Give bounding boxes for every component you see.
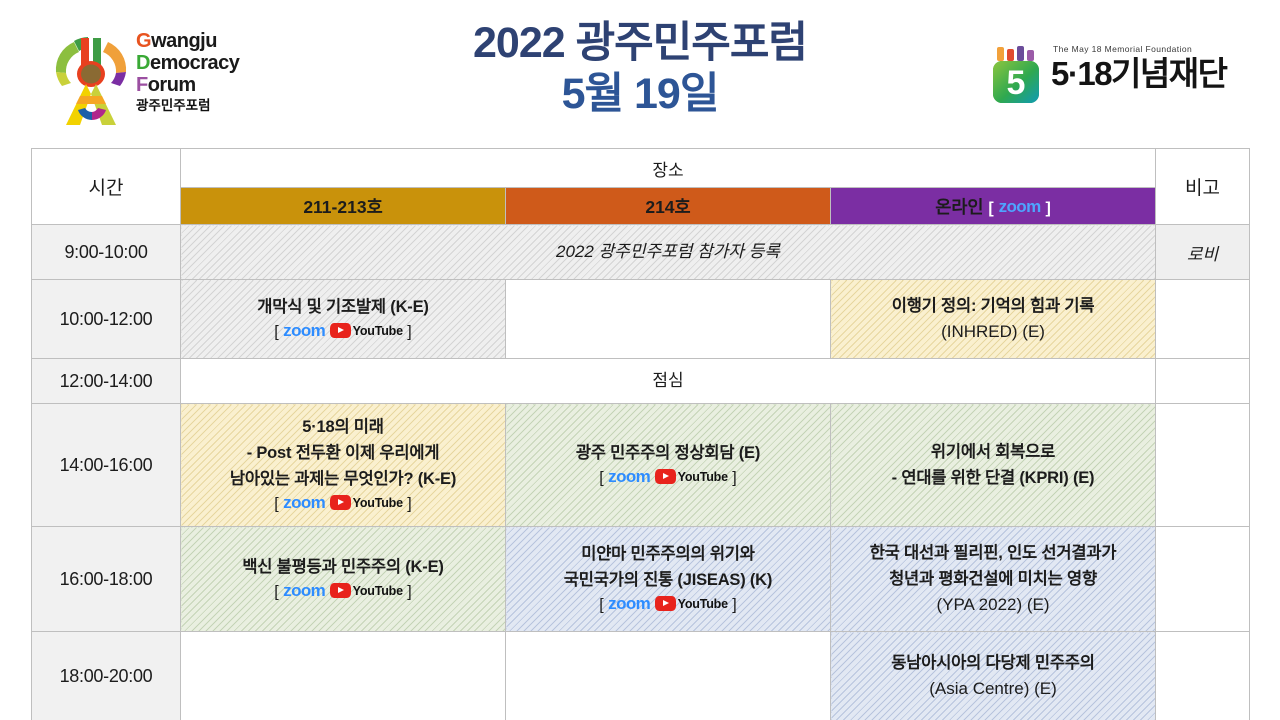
session-links: [ zoom YouTube ] bbox=[191, 492, 495, 516]
session-cell-211-213: 백신 불평등과 민주주의 (K-E) [ zoom YouTube ] bbox=[181, 527, 506, 632]
session-subtitle: (Asia Centre) (E) bbox=[841, 676, 1145, 702]
row-note bbox=[1156, 404, 1250, 527]
foundation-emblem-icon: 5 bbox=[989, 46, 1045, 104]
session-cell-online: 한국 대선과 필리핀, 인도 선거결과가 청년과 평화건설에 미치는 영향 (Y… bbox=[831, 527, 1156, 632]
youtube-logo: YouTube bbox=[330, 319, 403, 343]
session-cell-211-213: 5·18의 미래 - Post 전두환 이제 우리에게 남아있는 과제는 무엇인… bbox=[181, 404, 506, 527]
schedule-table: 시간 장소 비고 211-213호 214호 온라인 [ zoom ] 9:00… bbox=[31, 148, 1250, 720]
table-row: 18:00-20:00 동남아시아의 다당제 민주주의 (Asia Centre… bbox=[32, 632, 1250, 720]
header-note: 비고 bbox=[1156, 149, 1250, 225]
lunch-text: 점심 bbox=[181, 360, 1155, 402]
session-title-2: 청년과 평화건설에 미치는 영향 bbox=[841, 566, 1145, 592]
session-title-3: (YPA 2022) (E) bbox=[841, 592, 1145, 618]
youtube-logo: YouTube bbox=[655, 465, 728, 489]
row-time: 10:00-12:00 bbox=[32, 280, 181, 359]
zoom-logo: zoom bbox=[608, 592, 650, 616]
lunch-cell: 점심 bbox=[181, 359, 1156, 404]
row-time: 16:00-18:00 bbox=[32, 527, 181, 632]
youtube-play-icon bbox=[655, 596, 676, 611]
session-links: [ zoom YouTube ] bbox=[191, 320, 495, 344]
session-title: 미얀마 민주주의의 위기와 bbox=[516, 541, 820, 567]
table-row: 9:00-10:00 2022 광주민주포럼 참가자 등록 로비 bbox=[32, 225, 1250, 280]
bracket-open: [ bbox=[988, 200, 993, 217]
table-row: 16:00-18:00 백신 불평등과 민주주의 (K-E) [ zoom Yo… bbox=[32, 527, 1250, 632]
poster-header: Gwangju Democracy Forum 광주민주포럼 2022 광주민주… bbox=[0, 0, 1280, 148]
row-note bbox=[1156, 527, 1250, 632]
session-body: 개막식 및 기조발제 (K-E) [ zoom YouTube ] bbox=[181, 286, 505, 352]
session-cell-211-213 bbox=[181, 632, 506, 720]
session-title: 광주 민주주의 정상회담 (E) bbox=[516, 440, 820, 466]
zoom-logo: zoom bbox=[608, 465, 650, 489]
session-cell-214 bbox=[506, 280, 831, 359]
youtube-play-icon bbox=[330, 323, 351, 338]
poster-page: Gwangju Democracy Forum 광주민주포럼 2022 광주민주… bbox=[0, 0, 1280, 720]
session-title: 백신 불평등과 민주주의 (K-E) bbox=[191, 554, 495, 580]
header-room-214: 214호 bbox=[506, 188, 831, 225]
session-title-2: - Post 전두환 이제 우리에게 bbox=[191, 440, 495, 466]
row-note bbox=[1156, 280, 1250, 359]
session-title: 5·18의 미래 bbox=[191, 414, 495, 440]
header-room-online: 온라인 [ zoom ] bbox=[831, 188, 1156, 225]
youtube-play-icon bbox=[330, 495, 351, 510]
page-title: 2022 광주민주포럼 5월 19일 bbox=[330, 18, 950, 120]
bracket-close: ] bbox=[1045, 200, 1050, 217]
session-cell-214: 미얀마 민주주의의 위기와 국민국가의 진통 (JISEAS) (K) [ zo… bbox=[506, 527, 831, 632]
row-note bbox=[1156, 632, 1250, 720]
row-note: 로비 bbox=[1156, 225, 1250, 280]
svg-text:5: 5 bbox=[1007, 64, 1026, 102]
gdf-line3: Forum bbox=[136, 74, 286, 96]
title-line-1: 2022 광주민주포럼 bbox=[330, 18, 950, 68]
row-time: 18:00-20:00 bbox=[32, 632, 181, 720]
session-title: 한국 대선과 필리핀, 인도 선거결과가 bbox=[841, 540, 1145, 566]
table-row: 10:00-12:00 개막식 및 기조발제 (K-E) [ zoom YouT… bbox=[32, 280, 1250, 359]
foundation-korean-name: 5·18기념재단 bbox=[1051, 55, 1227, 93]
gwangju-democracy-forum-logo: Gwangju Democracy Forum 광주민주포럼 bbox=[48, 26, 278, 132]
session-title: 동남아시아의 다당제 민주주의 bbox=[841, 650, 1145, 676]
online-label: 온라인 bbox=[935, 197, 983, 217]
session-body: 동남아시아의 다당제 민주주의 (Asia Centre) (E) bbox=[831, 642, 1155, 710]
session-subtitle: (INHRED) (E) bbox=[841, 319, 1145, 345]
session-cell-online: 동남아시아의 다당제 민주주의 (Asia Centre) (E) bbox=[831, 632, 1156, 720]
row-time: 14:00-16:00 bbox=[32, 404, 181, 527]
zoom-logo: zoom bbox=[283, 491, 325, 515]
session-title: 위기에서 회복으로 bbox=[841, 439, 1145, 465]
session-body: 한국 대선과 필리핀, 인도 선거결과가 청년과 평화건설에 미치는 영향 (Y… bbox=[831, 532, 1155, 626]
gdf-line2: Democracy bbox=[136, 52, 286, 74]
session-title: 개막식 및 기조발제 (K-E) bbox=[191, 294, 495, 320]
session-title-3: 남아있는 과제는 무엇인가? (K-E) bbox=[191, 466, 495, 492]
table-header-row-2: 211-213호 214호 온라인 [ zoom ] bbox=[32, 188, 1250, 225]
zoom-logo: zoom bbox=[283, 319, 325, 343]
session-cell-online: 이행기 정의: 기억의 힘과 기록 (INHRED) (E) bbox=[831, 280, 1156, 359]
session-links: [ zoom YouTube ] bbox=[191, 580, 495, 604]
session-body: 미얀마 민주주의의 위기와 국민국가의 진통 (JISEAS) (K) [ zo… bbox=[506, 533, 830, 625]
row-time: 12:00-14:00 bbox=[32, 359, 181, 404]
gdf-line1: Gwangju bbox=[136, 30, 286, 52]
gdf-korean-name: 광주민주포럼 bbox=[136, 97, 286, 115]
title-line-2: 5월 19일 bbox=[330, 68, 950, 120]
session-title: 이행기 정의: 기억의 힘과 기록 bbox=[841, 293, 1145, 319]
table-row: 12:00-14:00 점심 bbox=[32, 359, 1250, 404]
session-body: 이행기 정의: 기억의 힘과 기록 (INHRED) (E) bbox=[831, 285, 1155, 353]
session-links: [ zoom YouTube ] bbox=[516, 466, 820, 490]
youtube-logo: YouTube bbox=[330, 579, 403, 603]
session-cell-online: 위기에서 회복으로 - 연대를 위한 단결 (KPRI) (E) bbox=[831, 404, 1156, 527]
gdf-wordmark: Gwangju Democracy Forum 광주민주포럼 bbox=[136, 30, 286, 115]
table-header-row-1: 시간 장소 비고 bbox=[32, 149, 1250, 188]
table-row: 14:00-16:00 5·18의 미래 - Post 전두환 이제 우리에게 … bbox=[32, 404, 1250, 527]
youtube-play-icon bbox=[330, 583, 351, 598]
row-time: 9:00-10:00 bbox=[32, 225, 181, 280]
header-room-211-213: 211-213호 bbox=[181, 188, 506, 225]
registration-cell: 2022 광주민주포럼 참가자 등록 bbox=[181, 225, 1156, 280]
row-note bbox=[1156, 359, 1250, 404]
youtube-logo: YouTube bbox=[655, 592, 728, 616]
session-body: 백신 불평등과 민주주의 (K-E) [ zoom YouTube ] bbox=[181, 546, 505, 612]
session-title-2: - 연대를 위한 단결 (KPRI) (E) bbox=[841, 465, 1145, 491]
session-cell-211-213: 개막식 및 기조발제 (K-E) [ zoom YouTube ] bbox=[181, 280, 506, 359]
youtube-logo: YouTube bbox=[330, 491, 403, 515]
session-cell-214: 광주 민주주의 정상회담 (E) [ zoom YouTube ] bbox=[506, 404, 831, 527]
session-links: [ zoom YouTube ] bbox=[516, 593, 820, 617]
session-cell-214 bbox=[506, 632, 831, 720]
zoom-logo: zoom bbox=[999, 197, 1041, 217]
session-body: 5·18의 미래 - Post 전두환 이제 우리에게 남아있는 과제는 무엇인… bbox=[181, 406, 505, 524]
registration-text: 2022 광주민주포럼 참가자 등록 bbox=[181, 231, 1155, 273]
gdf-emblem-icon bbox=[48, 28, 134, 128]
header-place: 장소 bbox=[181, 149, 1156, 188]
header-time: 시간 bbox=[32, 149, 181, 225]
session-title-2: 국민국가의 진통 (JISEAS) (K) bbox=[516, 567, 820, 593]
session-body: 광주 민주주의 정상회담 (E) [ zoom YouTube ] bbox=[506, 432, 830, 498]
foundation-english-name: The May 18 Memorial Foundation bbox=[1053, 44, 1192, 54]
session-body: 위기에서 회복으로 - 연대를 위한 단결 (KPRI) (E) bbox=[831, 431, 1155, 499]
zoom-logo: zoom bbox=[283, 579, 325, 603]
may18-memorial-foundation-logo: 5 The May 18 Memorial Foundation 5·18기념재… bbox=[989, 44, 1234, 106]
youtube-play-icon bbox=[655, 469, 676, 484]
